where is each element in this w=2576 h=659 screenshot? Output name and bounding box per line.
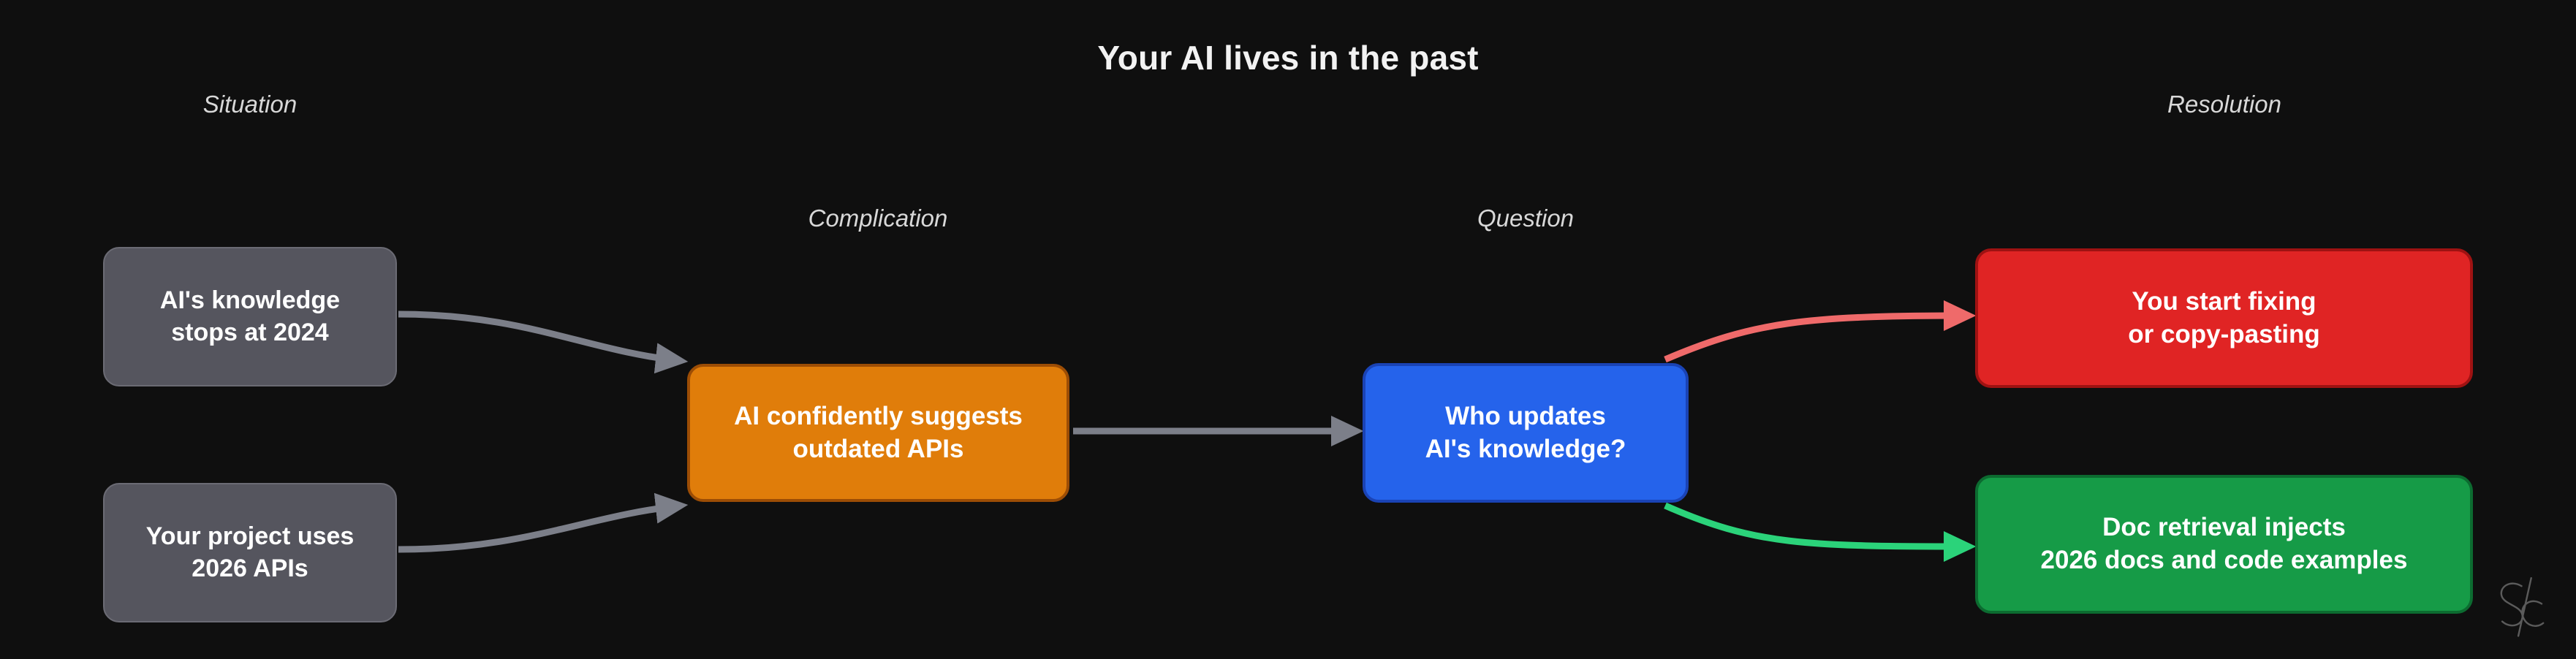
node-label: Your project uses 2026 APIs — [146, 521, 355, 584]
page-title: Your AI lives in the past — [0, 38, 2576, 77]
node-resolution-manual-fixing[interactable]: You start fixing or copy-pasting — [1975, 248, 2473, 388]
node-question-who-updates[interactable]: Who updates AI's knowledge? — [1363, 363, 1689, 503]
signature-watermark-icon — [2485, 568, 2566, 649]
edge-question-to-doc-retrieval — [1665, 506, 1969, 546]
stage-label-question: Question — [1477, 205, 1574, 232]
node-label: Who updates AI's knowledge? — [1425, 400, 1626, 466]
node-resolution-doc-retrieval[interactable]: Doc retrieval injects 2026 docs and code… — [1975, 475, 2473, 614]
node-label: You start fixing or copy-pasting — [2128, 286, 2320, 351]
edge-project-to-complication — [398, 506, 681, 549]
node-situation-project-apis[interactable]: Your project uses 2026 APIs — [103, 483, 397, 622]
node-situation-knowledge-cutoff[interactable]: AI's knowledge stops at 2024 — [103, 247, 397, 386]
stage-label-complication: Complication — [808, 205, 948, 232]
stage-label-resolution: Resolution — [2167, 91, 2281, 118]
edge-knowledge-to-complication — [398, 314, 681, 361]
edge-question-to-manual-fixing — [1665, 316, 1969, 359]
diagram-canvas: Your AI lives in the past SituationCompl… — [0, 0, 2576, 659]
node-label: AI confidently suggests outdated APIs — [734, 400, 1023, 466]
node-label: AI's knowledge stops at 2024 — [160, 285, 340, 348]
stage-label-situation: Situation — [203, 91, 297, 118]
node-label: Doc retrieval injects 2026 docs and code… — [2041, 511, 2408, 577]
node-complication-outdated-apis[interactable]: AI confidently suggests outdated APIs — [687, 364, 1069, 502]
